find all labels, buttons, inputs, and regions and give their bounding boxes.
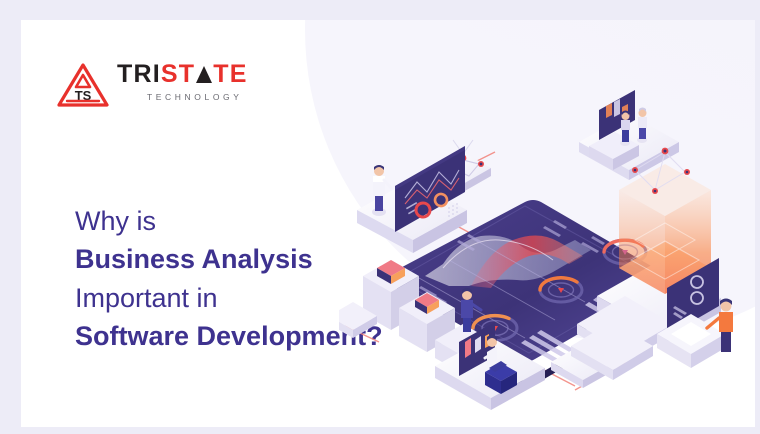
headline-line-4: Software Development? [75,317,383,355]
left-screen-platform [357,146,467,253]
headline-line-2: Business Analysis [75,240,383,278]
logo-text-block: TRISTTE TECHNOLOGY [117,58,248,102]
isometric-business-analytics-illustration [339,90,755,420]
content-card: TS TRISTTE TECHNOLOGY Why is Business An… [21,20,755,427]
headline-line-1: Why is [75,202,383,240]
logo-word-part-3-triangle-a [196,66,212,83]
headline-line-3: Important in [75,279,383,317]
page-title: Why is Business Analysis Important in So… [75,202,383,355]
logo-wordmark: TRISTTE [117,62,248,87]
logo-word-part-1: TRI [117,60,161,88]
tristate-technology-logo[interactable]: TS TRISTTE TECHNOLOGY [57,58,248,108]
page-root: TS TRISTTE TECHNOLOGY Why is Business An… [0,0,760,434]
logo-word-part-4: TE [213,60,247,88]
triangle-ts-icon: TS [57,62,109,108]
logo-word-part-2: ST [161,60,195,88]
logo-subtitle: TECHNOLOGY [147,92,248,102]
